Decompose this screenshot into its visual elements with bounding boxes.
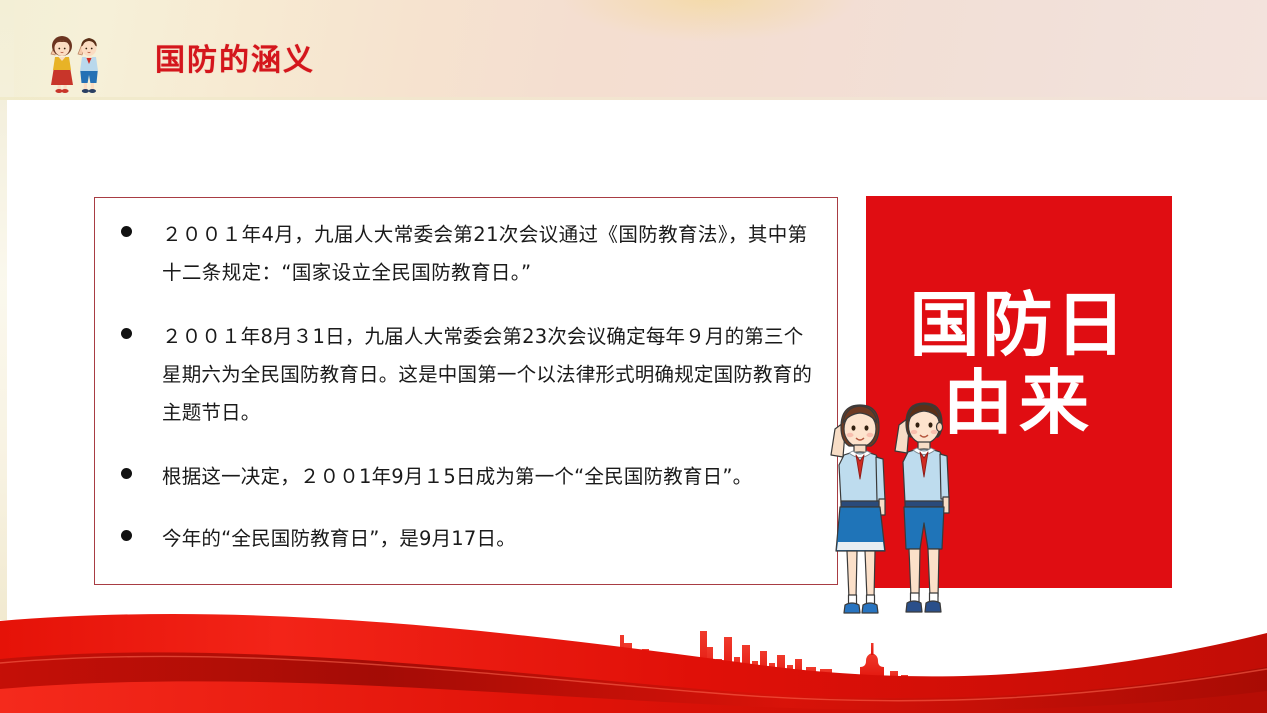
list-item-text: ２００１年4月，九届人大常委会第21次会议通过《国防教育法》，其中第十二条规定：… <box>162 216 819 292</box>
list-item-text: ２００１年8月３1日，九届人大常委会第23次会议确定每年９月的第三个星期六为全民… <box>162 318 819 432</box>
bullet-list: ２００１年4月，九届人大常委会第21次会议通过《国防教育法》，其中第十二条规定：… <box>95 198 837 558</box>
bottom-red-wave-decoration <box>0 573 1267 713</box>
city-skyline-silhouette <box>520 631 908 683</box>
content-box: ２００１年4月，九届人大常委会第21次会议通过《国防教育法》，其中第十二条规定：… <box>94 197 838 585</box>
left-edge-strip <box>0 100 7 620</box>
slide-canvas: 国防的涵义 ２００１年4月，九届人大常委会第21次会议通过《国防教育法》，其中第… <box>0 0 1267 713</box>
bullet-dot-icon <box>121 226 132 237</box>
wave-middle <box>0 652 1267 713</box>
wave-back <box>0 614 1267 713</box>
list-item: 今年的“全民国防教育日”，是9月17日。 <box>107 520 819 558</box>
wave-front <box>0 681 1267 713</box>
list-item: 根据这一决定，２００1年9月１5日成为第一个“全民国防教育日”。 <box>107 458 819 496</box>
bullet-dot-icon <box>121 530 132 541</box>
header-left-strip <box>0 0 14 100</box>
bullet-dot-icon <box>121 328 132 339</box>
list-item-text: 根据这一决定，２００1年9月１5日成为第一个“全民国防教育日”。 <box>162 458 819 496</box>
page-title-text: 国防的涵义 <box>155 46 315 76</box>
list-item-text: 今年的“全民国防教育日”，是9月17日。 <box>162 520 819 558</box>
bullet-dot-icon <box>121 468 132 479</box>
wave-highlight <box>0 656 1267 700</box>
two-saluting-children-icon <box>38 28 108 94</box>
list-item: ２００１年8月３1日，九届人大常委会第23次会议确定每年９月的第三个星期六为全民… <box>107 318 819 432</box>
two-saluting-children-illustration <box>805 393 965 621</box>
header-glow <box>560 0 860 42</box>
red-panel-line1: 国防日 <box>910 284 1129 366</box>
page-title: 国防的涵义 <box>155 38 315 84</box>
list-item: ２００１年4月，九届人大常委会第21次会议通过《国防教育法》，其中第十二条规定：… <box>107 216 819 292</box>
